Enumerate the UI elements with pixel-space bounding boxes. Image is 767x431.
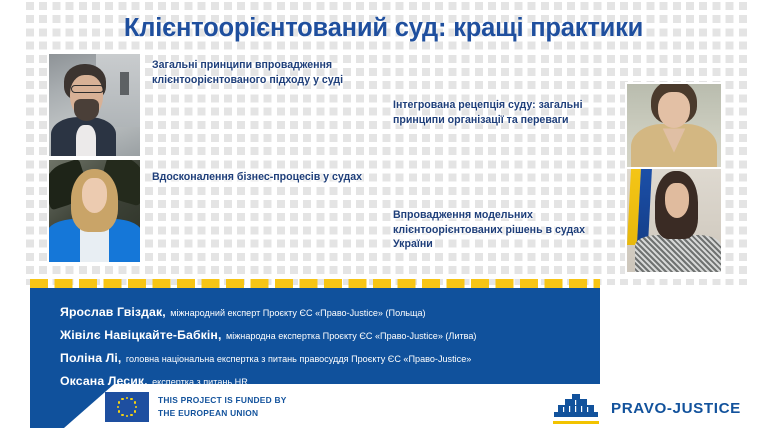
- eu-star-icon: [134, 401, 136, 403]
- brand-name: PRAVO-JUSTICE: [611, 400, 741, 417]
- eu-star-icon: [134, 410, 136, 412]
- eu-funding-line-1: THIS PROJECT IS FUNDED BY: [158, 394, 287, 407]
- speaker-name: Ярослав Гвіздак,: [60, 305, 166, 319]
- pravo-justice-logo: PRAVO-JUSTICE: [553, 393, 741, 424]
- eu-funding-text: THIS PROJECT IS FUNDED BY THE EUROPEAN U…: [158, 394, 287, 420]
- speaker-name: Оксана Лесик,: [60, 374, 148, 388]
- eu-funding-line-2: THE EUROPEAN UNION: [158, 407, 287, 420]
- slide-canvas: Клієнтоорієнтований суд: кращі практики: [0, 0, 767, 431]
- list-item: Оксана Лесик, експертка з питань HR: [60, 371, 590, 391]
- eu-star-icon: [130, 398, 132, 400]
- speakers-list: Ярослав Гвіздак, міжнародний експерт Про…: [60, 302, 590, 394]
- eu-flag-icon: [105, 392, 149, 422]
- list-item: Жівілє Навіцкайте-Бабкін, міжнародна екс…: [60, 325, 590, 345]
- topic-label-3: Вдосконалення бізнес-процесів у судах: [152, 170, 387, 185]
- topic-label-1: Загальні принципи впровадження клієнтоор…: [152, 58, 387, 87]
- logo-underline: [553, 421, 599, 424]
- eu-star-icon: [126, 415, 128, 417]
- eu-star-icon: [121, 398, 123, 400]
- portrait-photo-gvizdak: [47, 52, 142, 158]
- speaker-name: Поліна Лі,: [60, 351, 121, 365]
- eu-star-icon: [126, 397, 128, 399]
- speaker-role: експертка з питань HR: [152, 377, 248, 387]
- portrait-photo-business-process: [47, 158, 142, 264]
- speaker-role: головна національна експертка з питань п…: [126, 354, 471, 364]
- eu-funding-logo: THIS PROJECT IS FUNDED BY THE EUROPEAN U…: [105, 392, 287, 422]
- eu-star-icon: [117, 406, 119, 408]
- list-item: Поліна Лі, головна національна експертка…: [60, 348, 590, 368]
- courthouse-icon: [553, 393, 599, 424]
- speaker-name: Жівілє Навіцкайте-Бабкін,: [60, 328, 221, 342]
- yellow-dashed-divider: [30, 279, 600, 288]
- eu-star-icon: [118, 410, 120, 412]
- speaker-role: міжнародний експерт Проєкту ЄС «Право-Ju…: [170, 308, 425, 318]
- eu-star-icon: [118, 401, 120, 403]
- topic-label-4: Впровадження модельних клієнтоорієнтован…: [393, 208, 608, 252]
- eu-star-icon: [121, 414, 123, 416]
- topic-label-2: Інтегрована рецепція суду: загальні прин…: [393, 98, 618, 127]
- eu-star-icon: [135, 406, 137, 408]
- portrait-photo-li: [625, 167, 723, 274]
- speaker-role: міжнародна експертка Проєкту ЄС «Право-J…: [226, 331, 477, 341]
- page-title: Клієнтоорієнтований суд: кращі практики: [0, 14, 767, 43]
- eu-star-icon: [130, 414, 132, 416]
- list-item: Ярослав Гвіздак, міжнародний експерт Про…: [60, 302, 590, 322]
